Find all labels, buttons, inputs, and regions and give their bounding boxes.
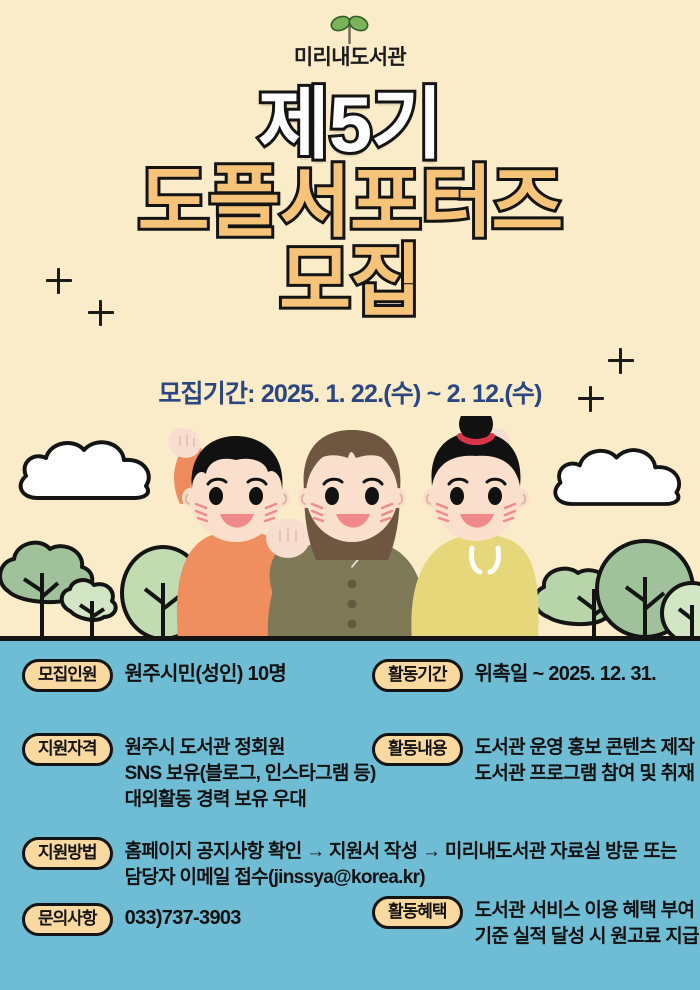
cloud-icon bbox=[545, 436, 690, 514]
info-row-benefit: 활동혜택 도서관 서비스 이용 혜택 부여 기준 실적 달성 시 원고료 지급 bbox=[372, 896, 699, 950]
title-line-1: 제5기 bbox=[0, 86, 700, 162]
waving-person-brown bbox=[266, 430, 426, 641]
value-how-to-apply: 홈페이지 공지사항 확인 → 지원서 작성 → 미리내도서관 자료실 방문 또는… bbox=[125, 837, 677, 891]
waving-person-yellow bbox=[411, 416, 538, 641]
info-row-activity-content: 활동내용 도서관 운영 홍보 콘텐츠 제작 도서관 프로그램 참여 및 취재 bbox=[372, 733, 694, 787]
info-row-activity-period: 활동기간 위촉일 ~ 2025. 12. 31. bbox=[372, 659, 656, 692]
value-qualification: 원주시 도서관 정회원 SNS 보유(블로그, 인스타그램 등) 대외활동 경력… bbox=[125, 733, 376, 814]
poster-header-area: 미리내도서관 제5기 도플서포터즈 모집 모집기간: 2025. 1. 22.(… bbox=[0, 0, 700, 641]
value-benefit: 도서관 서비스 이용 혜택 부여 기준 실적 달성 시 원고료 지급 bbox=[475, 896, 699, 950]
library-name: 미리내도서관 bbox=[0, 47, 700, 68]
poster-root: 미리내도서관 제5기 도플서포터즈 모집 모집기간: 2025. 1. 22.(… bbox=[0, 0, 700, 990]
label-contact: 문의사항 bbox=[22, 903, 113, 936]
sprout-icon bbox=[327, 14, 373, 46]
title-line-3: 모집 bbox=[0, 243, 700, 319]
value-recruit-count: 원주시민(성인) 10명 bbox=[125, 659, 287, 689]
info-row-how-to-apply: 지원방법 홈페이지 공지사항 확인 → 지원서 작성 → 미리내도서관 자료실 … bbox=[22, 837, 677, 891]
label-activity-content: 활동내용 bbox=[372, 733, 463, 766]
label-activity-period: 활동기간 bbox=[372, 659, 463, 692]
sparkle-icon bbox=[608, 348, 634, 374]
label-how-to-apply: 지원방법 bbox=[22, 837, 113, 870]
info-row-contact: 문의사항 033)737-3903 bbox=[22, 903, 241, 936]
label-qualification: 지원자격 bbox=[22, 733, 113, 766]
recruitment-period: 모집기간: 2025. 1. 22.(수) ~ 2. 12.(수) bbox=[0, 374, 700, 410]
poster-title: 제5기 도플서포터즈 모집 bbox=[0, 86, 700, 319]
value-contact: 033)737-3903 bbox=[125, 903, 241, 933]
info-row-count: 모집인원 원주시민(성인) 10명 bbox=[22, 659, 286, 692]
info-panel: 모집인원 원주시민(성인) 10명 활동기간 위촉일 ~ 2025. 12. 3… bbox=[0, 641, 700, 990]
label-recruit-count: 모집인원 bbox=[22, 659, 113, 692]
library-logo: 미리내도서관 bbox=[0, 14, 700, 68]
cloud-icon bbox=[10, 428, 160, 508]
ground-line bbox=[0, 636, 700, 641]
value-activity-content: 도서관 운영 홍보 콘텐츠 제작 도서관 프로그램 참여 및 취재 bbox=[475, 733, 695, 787]
info-row-qualification: 지원자격 원주시 도서관 정회원 SNS 보유(블로그, 인스타그램 등) 대외… bbox=[22, 733, 376, 814]
value-activity-period: 위촉일 ~ 2025. 12. 31. bbox=[475, 659, 656, 689]
label-benefit: 활동혜택 bbox=[372, 896, 463, 929]
waving-people-illustration bbox=[140, 416, 560, 641]
title-line-2: 도플서포터즈 bbox=[0, 164, 700, 240]
